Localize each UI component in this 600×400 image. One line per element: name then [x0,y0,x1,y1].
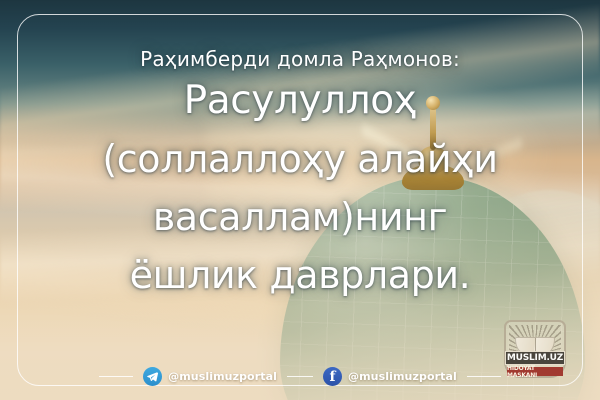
facebook-f-glyph: f [329,370,335,384]
headline-line-1: Расулуллоҳ [0,72,600,130]
poster-image: Раҳимберди домла Раҳмонов: Расулуллоҳ (с… [0,0,600,400]
telegram-icon[interactable] [143,367,162,386]
divider-left [99,376,133,377]
headline-line-2: (соллаллоҳу алайҳи [0,130,600,188]
facebook-icon[interactable]: f [323,367,342,386]
attribution-line: Раҳимберди домла Раҳмонов: [0,46,600,72]
headline-line-4: ёшлик даврлари. [0,246,600,304]
muslimuz-logo[interactable]: MUSLIM.UZ HIDOYAT MASKANI [504,320,566,378]
headline-line-3: васаллам)нинг [0,188,600,246]
social-facebook[interactable]: f @muslimuzportal [323,367,457,386]
divider-right [467,376,501,377]
telegram-handle[interactable]: @muslimuzportal [168,370,277,383]
headline-block: Раҳимберди домла Раҳмонов: Расулуллоҳ (с… [0,46,600,304]
divider-middle [287,376,313,377]
facebook-handle[interactable]: @muslimuzportal [348,370,457,383]
social-telegram[interactable]: @muslimuzportal [143,367,277,386]
logo-tagline-banner: HIDOYAT MASKANI [507,367,563,376]
logo-name-banner: MUSLIM.UZ [505,351,565,365]
